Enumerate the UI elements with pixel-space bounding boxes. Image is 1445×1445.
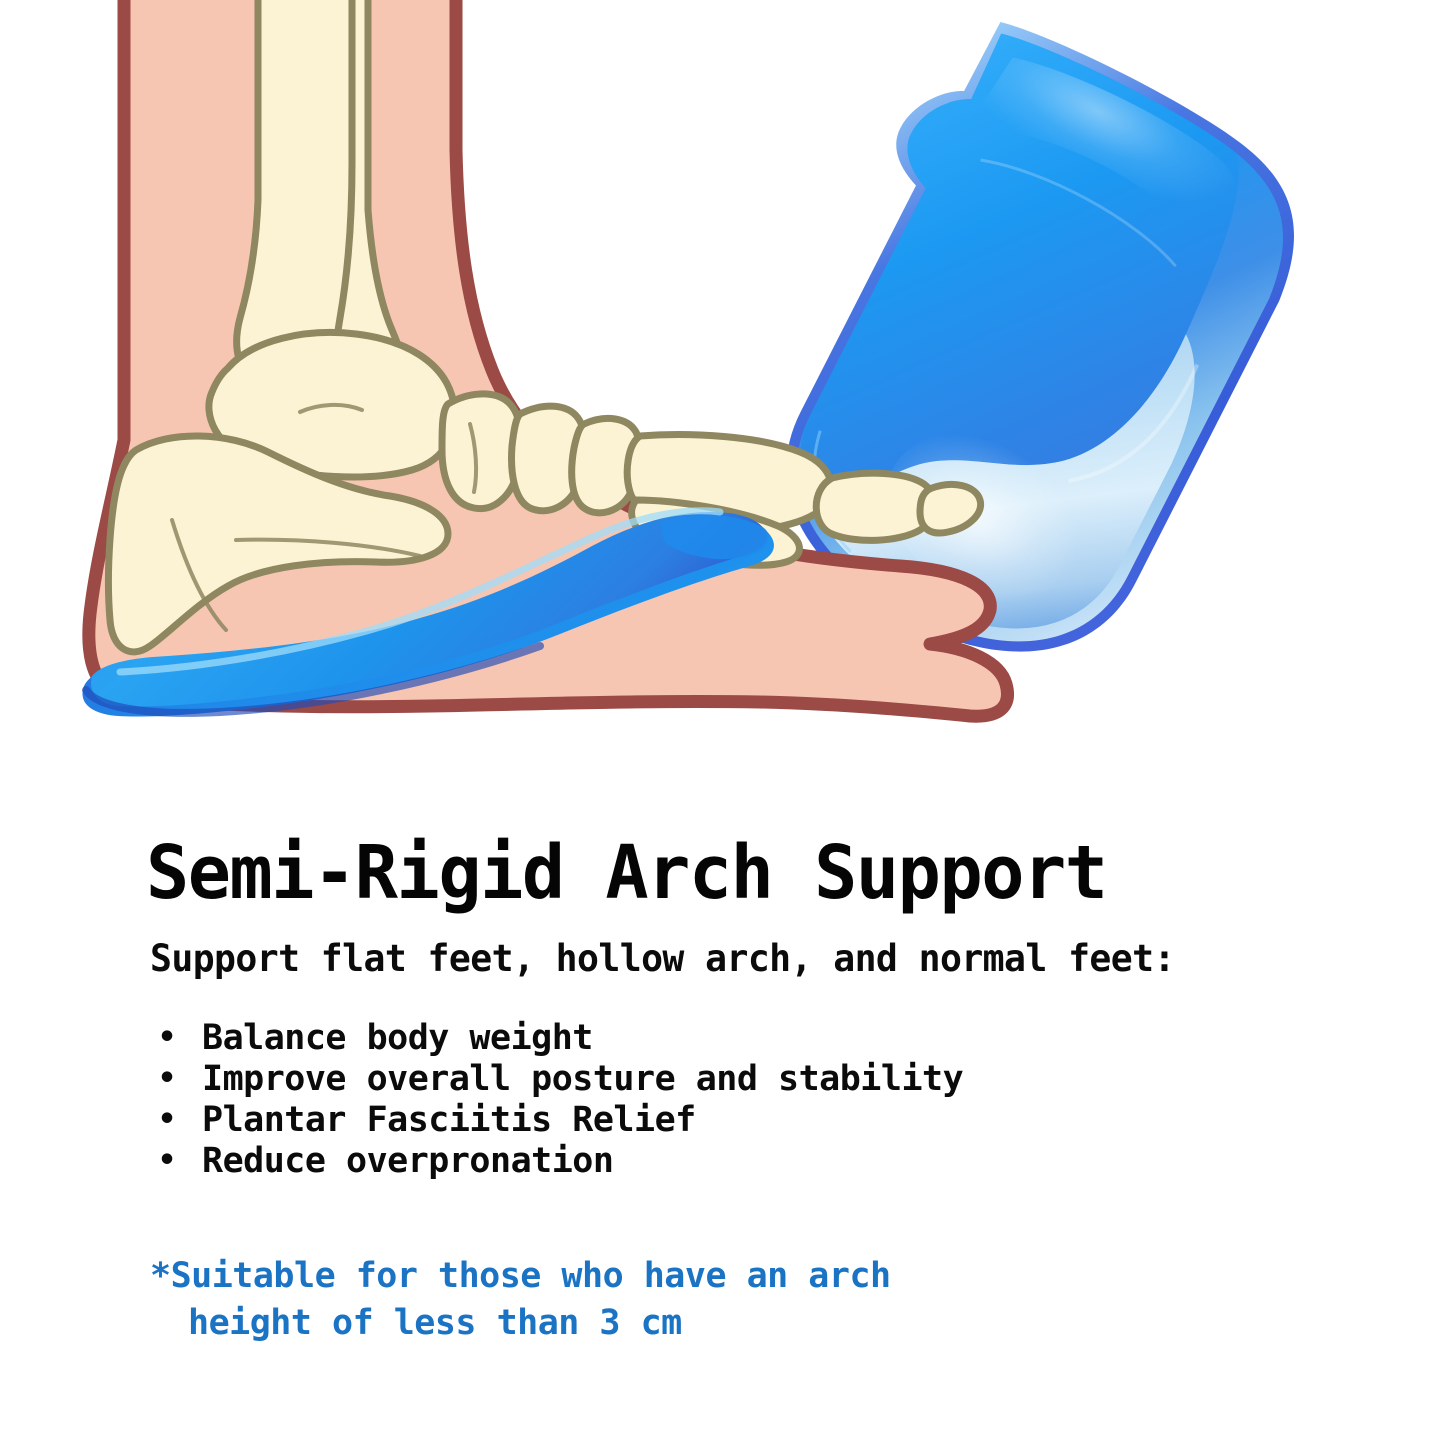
- illustration-area: [0, 0, 1445, 800]
- product-infographic: Semi-Rigid Arch Support Support flat fee…: [0, 0, 1445, 1445]
- list-item: Plantar Fasciitis Relief: [158, 1100, 963, 1141]
- list-item: Reduce overpronation: [158, 1141, 963, 1182]
- product-copy: Semi-Rigid Arch Support Support flat fee…: [0, 800, 1445, 1445]
- suitability-note-line-2: height of less than 3 cm: [150, 1300, 891, 1347]
- suitability-note: *Suitable for those who have an arch hei…: [150, 1253, 891, 1347]
- list-item: Improve overall posture and stability: [158, 1059, 963, 1100]
- subtitle: Support flat feet, hollow arch, and norm…: [150, 940, 1175, 977]
- page-title: Semi-Rigid Arch Support: [146, 836, 1106, 910]
- benefits-list: Balance body weight Improve overall post…: [158, 1018, 963, 1182]
- suitability-note-line-1: *Suitable for those who have an arch: [150, 1256, 891, 1296]
- list-item: Balance body weight: [158, 1018, 963, 1059]
